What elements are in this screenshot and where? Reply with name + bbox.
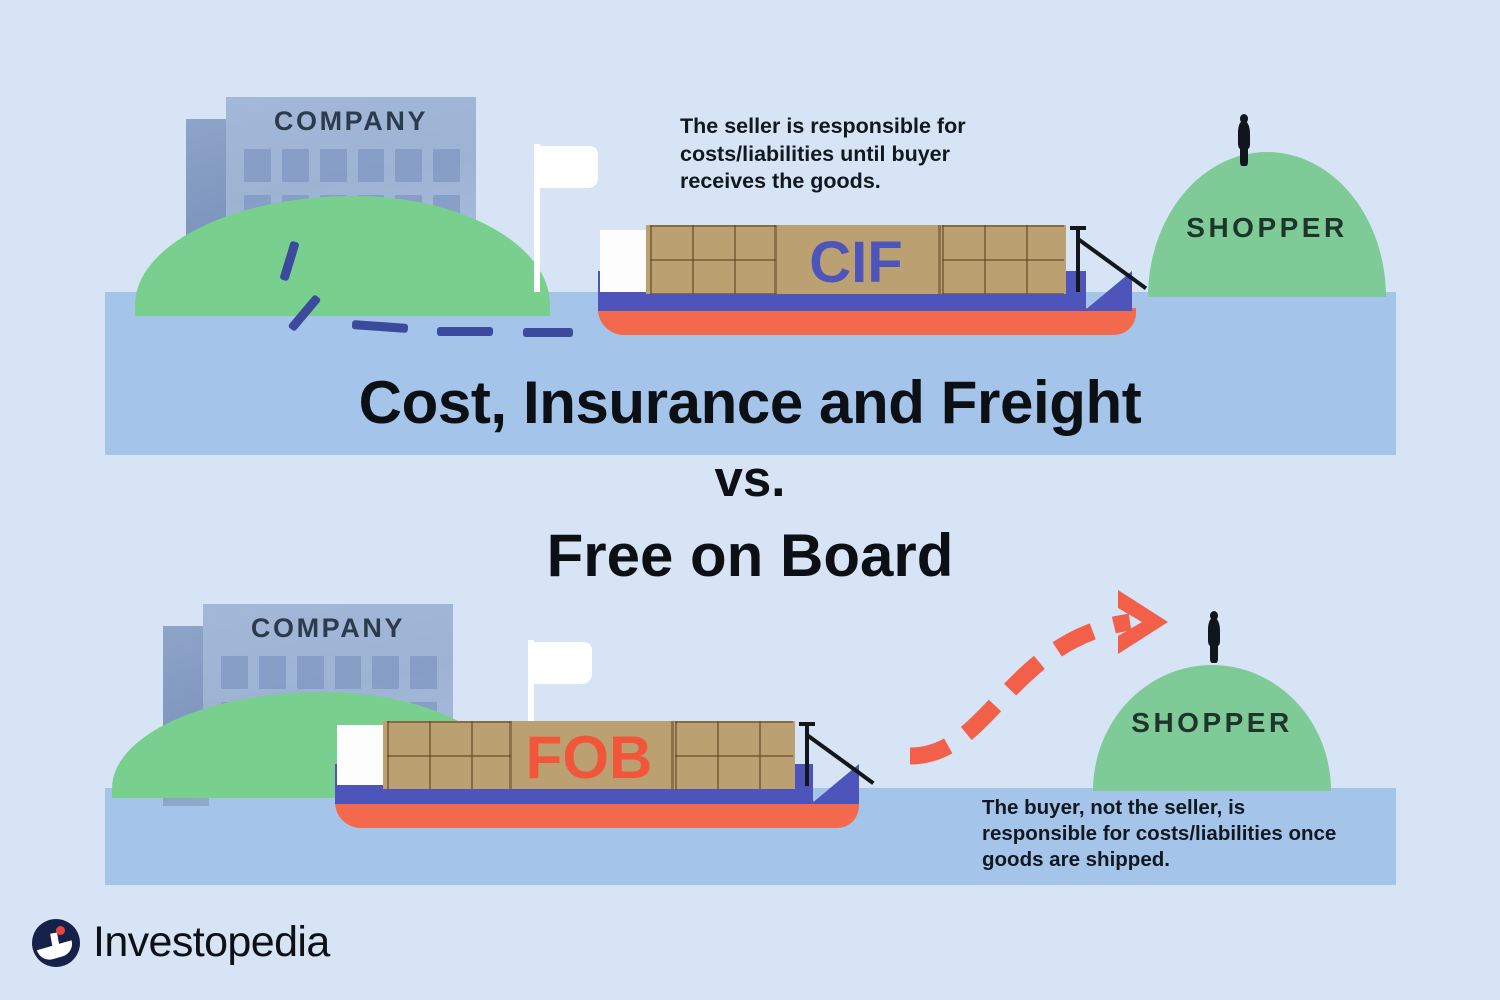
cargo-container-fob: FOB <box>383 721 795 789</box>
figure-legs <box>1240 145 1248 166</box>
infographic-canvas: COMPANY SHOPPER <box>0 0 1500 1000</box>
container-code-fob: FOB <box>383 723 795 792</box>
ship-flag-cif <box>538 146 598 188</box>
building-window <box>372 656 399 689</box>
investopedia-logo: Investopedia <box>32 918 330 967</box>
building-window <box>297 656 324 689</box>
ship-mast-fob <box>805 722 809 786</box>
shopper-label-cif: SHOPPER <box>1148 212 1386 244</box>
building-window <box>259 656 286 689</box>
building-window <box>410 656 437 689</box>
figure-legs <box>1210 642 1218 663</box>
building-window <box>282 149 309 182</box>
cargo-container-cif: CIF <box>646 225 1066 294</box>
logo-i-dot <box>56 926 65 935</box>
building-window <box>221 656 248 689</box>
mast-crosspiece <box>1070 226 1086 230</box>
title-line-fob: Free on Board <box>0 525 1500 586</box>
title-versus: vs. <box>0 453 1500 505</box>
building-window <box>395 149 422 182</box>
shipping-path-dash <box>523 328 573 337</box>
building-window <box>433 149 460 182</box>
ship-superstructure <box>337 725 383 785</box>
investopedia-mark-icon <box>32 919 80 967</box>
building-window <box>358 149 385 182</box>
cargo-ship-fob: FOB <box>335 713 865 828</box>
title-line-cif: Cost, Insurance and Freight <box>0 372 1500 433</box>
fob-caption: The buyer, not the seller, is responsibl… <box>982 795 1362 874</box>
ship-mast-cif <box>1076 226 1080 292</box>
company-label-fob: COMPANY <box>203 613 453 644</box>
shipping-path-dash <box>437 327 493 336</box>
shipping-responsibility-arrow-fob <box>880 580 1210 780</box>
cif-caption: The seller is responsible for costs/liab… <box>680 113 1025 196</box>
building-window <box>244 149 271 182</box>
company-label-cif: COMPANY <box>226 106 476 137</box>
ship-hull-lower <box>335 801 859 828</box>
mast-crosspiece <box>799 722 815 726</box>
ship-flag-fob <box>532 642 592 684</box>
building-window <box>320 149 347 182</box>
main-title: Cost, Insurance and Freight vs. Free on … <box>0 372 1500 586</box>
ship-superstructure <box>600 230 646 292</box>
shopper-figure-cif <box>1237 114 1251 166</box>
cargo-ship-cif: CIF <box>598 215 1138 335</box>
investopedia-wordmark: Investopedia <box>93 918 330 967</box>
ship-hull-lower <box>598 308 1136 335</box>
container-code-cif: CIF <box>646 229 1066 296</box>
building-window <box>335 656 362 689</box>
